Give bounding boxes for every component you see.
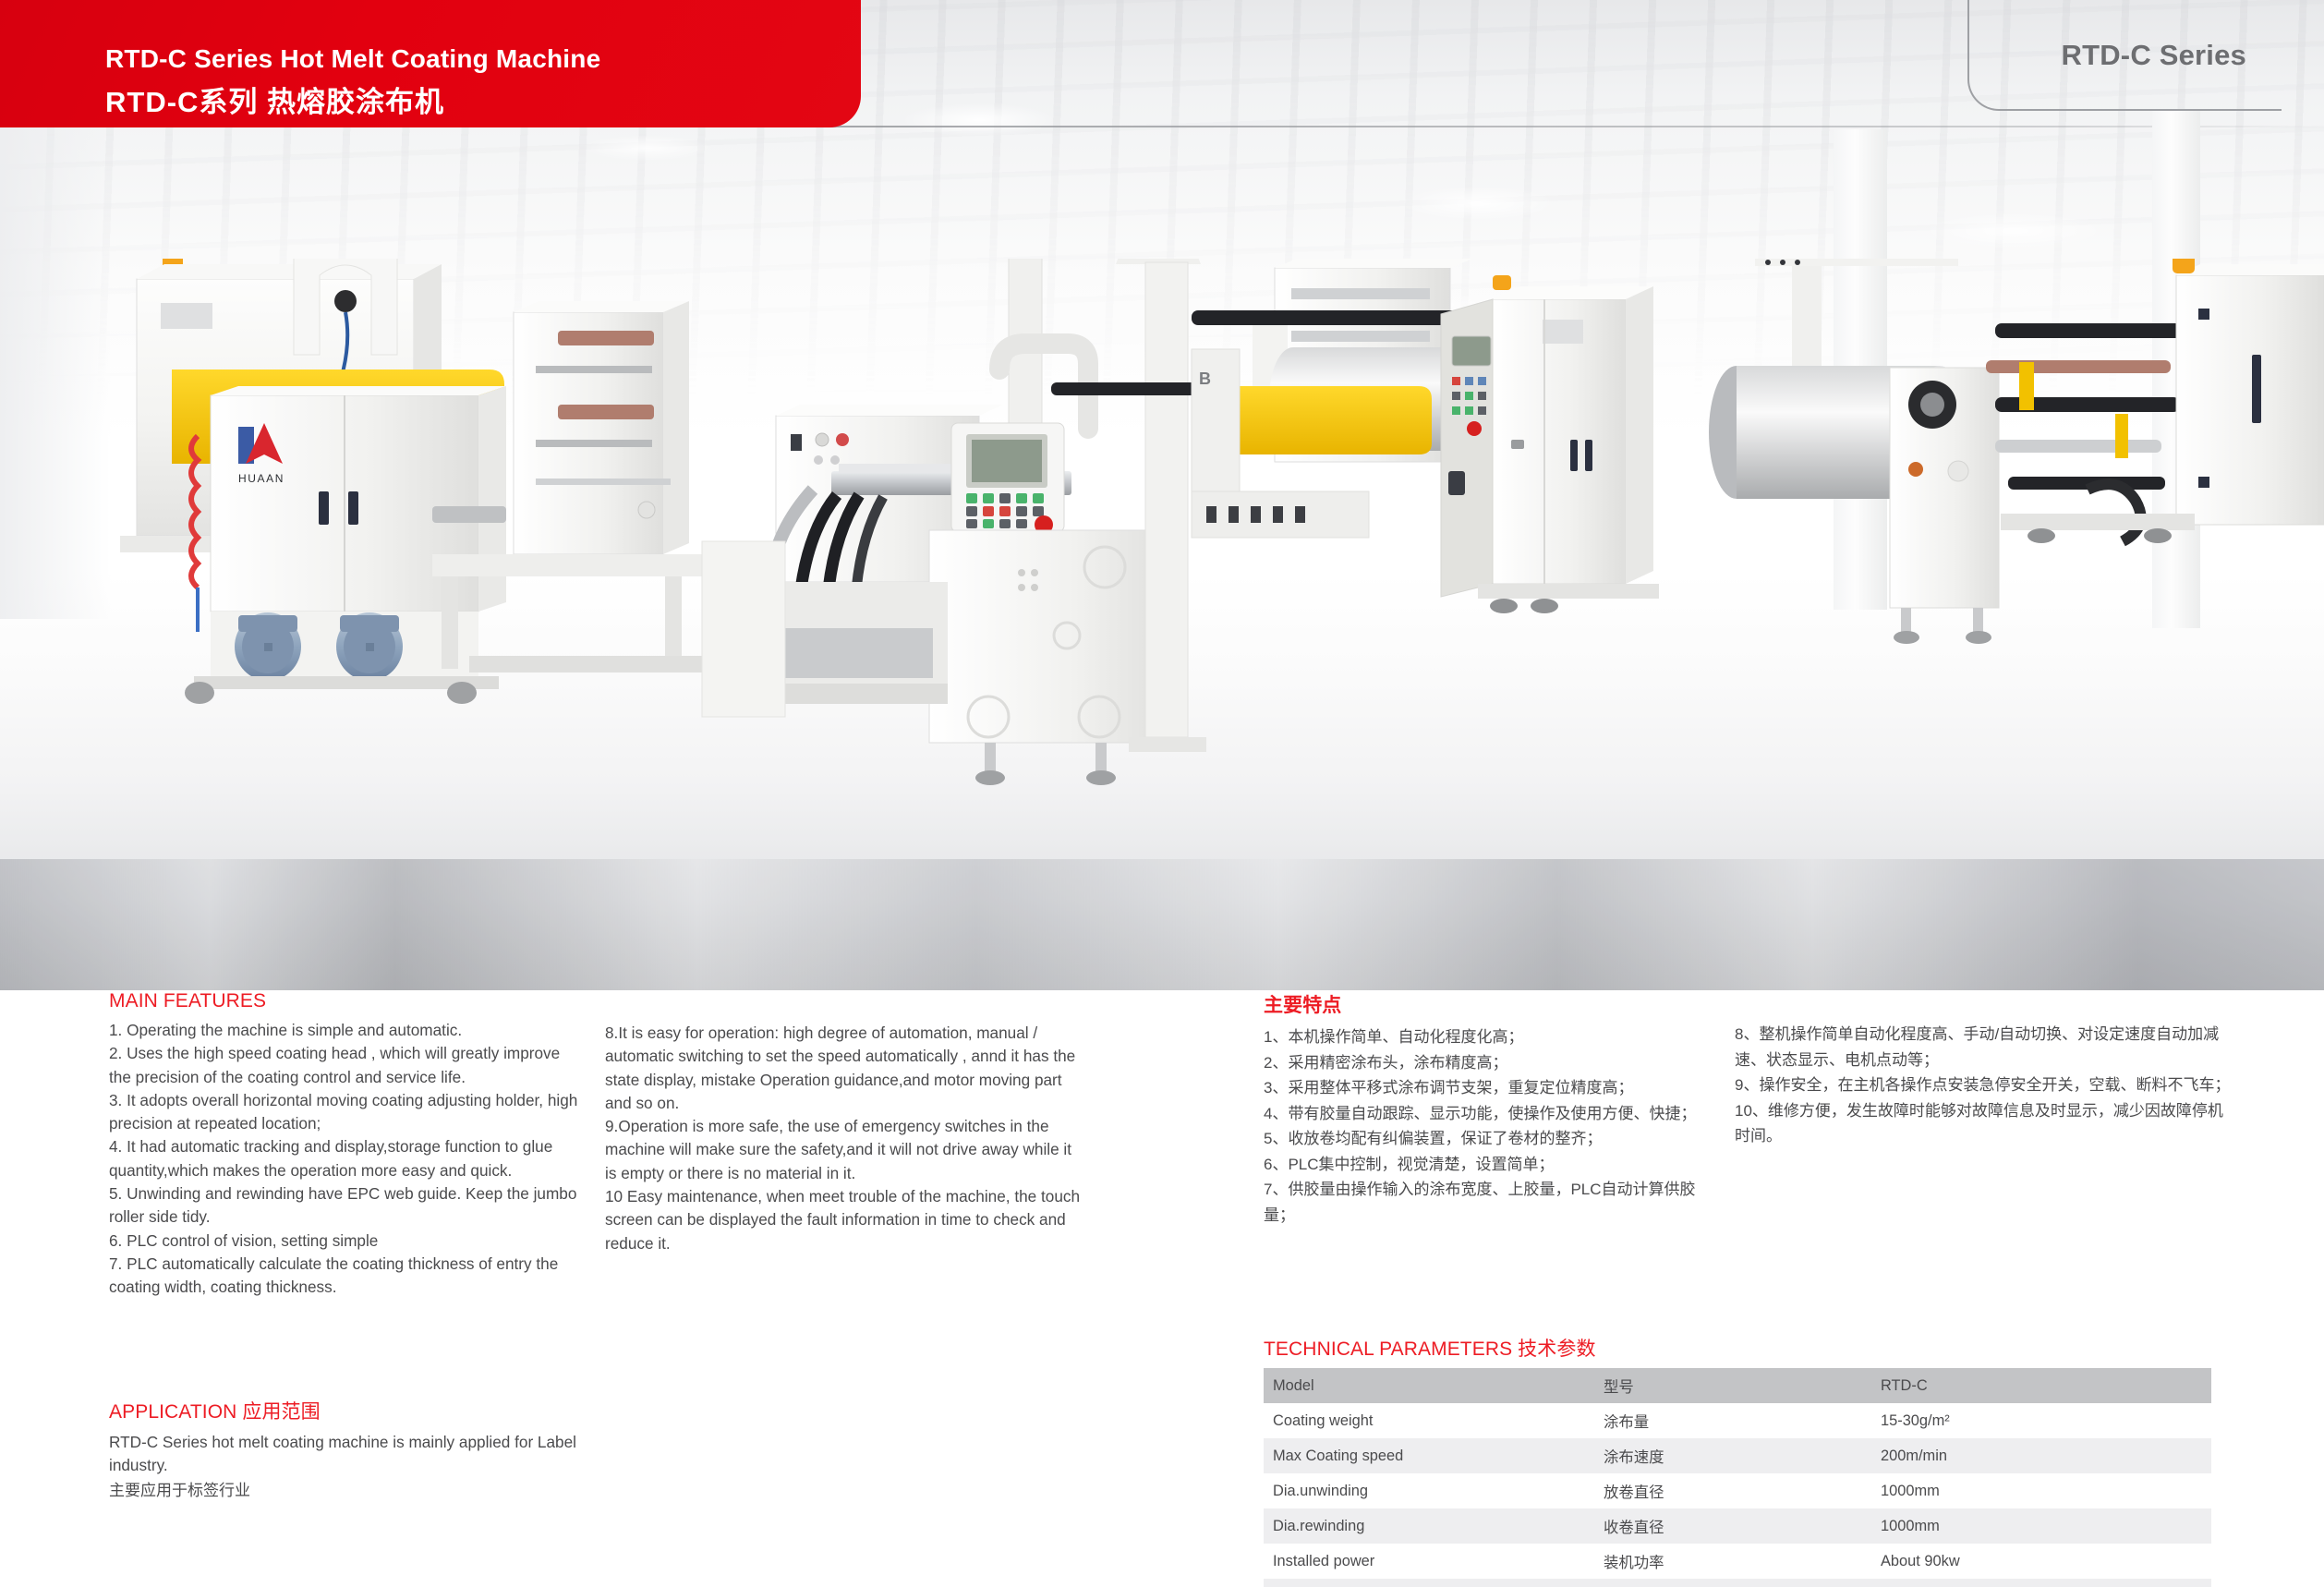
feature-item: 4、带有胶量自动跟踪、显示功能，使操作及使用方便、快捷； [1264,1101,1725,1127]
spec-label-cn: 收卷直径 [1594,1508,1871,1544]
spec-label-en: Dia.unwinding [1264,1473,1594,1508]
feature-item: 2. Uses the high speed coating head , wh… [109,1042,580,1089]
spec-row: Dia.unwinding放卷直径1000mm [1264,1473,2211,1508]
main-features-list-2: 8.It is easy for operation: high degree … [605,1022,1085,1255]
feature-item: 2、采用精密涂布头，涂布精度高； [1264,1050,1725,1076]
feature-item: 1. Operating the machine is simple and a… [109,1019,580,1042]
feature-item: 6、PLC集中控制，视觉清楚，设置简单； [1264,1152,1725,1178]
spec-label-cn: 装机功率 [1594,1544,1871,1579]
feature-item: 7、供胶量由操作输入的涂布宽度、上胶量，PLC自动计算供胶量； [1264,1177,1725,1228]
feature-item: 4. It had automatic tracking and display… [109,1135,580,1182]
application-text-cn: 主要应用于标签行业 [109,1478,589,1504]
far-right-rewinder [1709,259,2324,644]
main-features-column-2: 8.It is easy for operation: high degree … [605,1022,1085,1255]
series-badge: RTD-C Series [2061,39,2246,72]
spec-label-cn: 放卷直径 [1594,1473,1871,1508]
rewinder-and-control-unit: B [1192,259,1659,613]
title-banner: RTD-C Series Hot Melt Coating Machine RT… [0,0,861,127]
spec-value: ~380±15% [1871,1579,2211,1587]
main-features-list-1: 1. Operating the machine is simple and a… [109,1019,580,1299]
spec-row: Dia.rewinding收卷直径1000mm [1264,1508,2211,1544]
feature-item: 8.It is easy for operation: high degree … [605,1022,1085,1115]
spec-label-en: Installed power [1264,1544,1594,1579]
application-heading: APPLICATION 应用范围 [109,1397,589,1424]
spec-label-en: Model [1264,1368,1594,1403]
spec-value: About 90kw [1871,1544,2211,1579]
feature-item: 8、整机操作简单自动化程度高、手动/自动切换、对设定速度自动加减速、状态显示、电… [1735,1022,2233,1072]
feature-item: 1、本机操作简单、自动化程度化高； [1264,1024,1725,1050]
spec-value: 200m/min [1871,1438,2211,1473]
features-cn-column-1: 主要特点 1、本机操作简单、自动化程度化高；2、采用精密涂布头，涂布精度高；3、… [1264,990,1725,1228]
feature-item: 6. PLC control of vision, setting simple [109,1230,580,1253]
main-features-heading: MAIN FEATURES [109,990,580,1012]
spec-label-en: Power [1264,1579,1594,1587]
spec-header-row: Model型号RTD-C [1264,1368,2211,1403]
svg-text:B: B [1199,369,1211,388]
feature-item: 5、收放卷均配有纠偏装置，保证了卷材的整齐； [1264,1126,1725,1152]
features-cn-list-1: 1、本机操作简单、自动化程度化高；2、采用精密涂布头，涂布精度高；3、采用整体平… [1264,1024,1725,1228]
features-cn-list-2: 8、整机操作简单自动化程度高、手动/自动切换、对设定速度自动加减速、状态显示、电… [1735,1022,2233,1149]
feature-item: 9.Operation is more safe, the use of eme… [605,1115,1085,1185]
spec-value: 1000mm [1871,1473,2211,1508]
banner-title-cn: RTD-C系列 热熔胶涂布机 [105,79,444,120]
specification-table: Model型号RTD-CCoating weight涂布量15-30g/m²Ma… [1264,1368,2211,1587]
svg-text:HUAAN: HUAAN [238,472,284,485]
spec-row: Installed power装机功率About 90kw [1264,1544,2211,1579]
feature-item: 10、维修方便，发生故障时能够对故障信息及时显示，减少因故障停机时间。 [1735,1098,2233,1149]
spec-label-en: Dia.rewinding [1264,1508,1594,1544]
feature-item: 7. PLC automatically calculate the coati… [109,1253,580,1300]
spec-label-en: Max Coating speed [1264,1438,1594,1473]
feature-item: 3、采用整体平移式涂布调节支架，重复定位精度高； [1264,1075,1725,1101]
coating-machine-illustration: HUAAN [0,259,2324,905]
technical-parameters-heading: TECHNICAL PARAMETERS 技术参数 [1264,1334,2215,1362]
feature-item: 3. It adopts overall horizontal moving c… [109,1089,580,1136]
features-cn-heading: 主要特点 [1264,990,1725,1018]
spec-value: 15-30g/m² [1871,1403,2211,1438]
spec-value: RTD-C [1871,1368,2211,1403]
content-area: MAIN FEATURES 1. Operating the machine i… [0,990,2324,1587]
spec-label-en: Coating weight [1264,1403,1594,1438]
spec-label-cn: 涂布速度 [1594,1438,1871,1473]
banner-title-en: RTD-C Series Hot Melt Coating Machine [105,44,600,74]
spec-row: Power电源~380±15% [1264,1579,2211,1587]
brochure-page: HUAAN [0,0,2324,1587]
product-photo: HUAAN [0,0,2324,990]
application-section: APPLICATION 应用范围 RTD-C Series hot melt c… [109,1397,589,1503]
spec-row: Max Coating speed涂布速度200m/min [1264,1438,2211,1473]
feature-item: 10 Easy maintenance, when meet trouble o… [605,1185,1085,1255]
feature-item: 5. Unwinding and rewinding have EPC web … [109,1182,580,1230]
spec-label-cn: 涂布量 [1594,1403,1871,1438]
application-text-en: RTD-C Series hot melt coating machine is… [109,1431,589,1478]
specification-table-body: Model型号RTD-CCoating weight涂布量15-30g/m²Ma… [1264,1368,2211,1587]
spec-row: Coating weight涂布量15-30g/m² [1264,1403,2211,1438]
features-cn-column-2: 8、整机操作简单自动化程度高、手动/自动切换、对设定速度自动加减速、状态显示、电… [1735,1022,2233,1149]
main-features-column-1: MAIN FEATURES 1. Operating the machine i… [109,990,580,1299]
feature-item: 9、操作安全，在主机各操作点安装急停安全开关，空载、断料不飞车； [1735,1072,2233,1098]
spec-label-cn: 型号 [1594,1368,1871,1403]
spec-value: 1000mm [1871,1508,2211,1544]
technical-parameters-section: TECHNICAL PARAMETERS 技术参数 Model型号RTD-CCo… [1264,1334,2215,1587]
spec-label-cn: 电源 [1594,1579,1871,1587]
